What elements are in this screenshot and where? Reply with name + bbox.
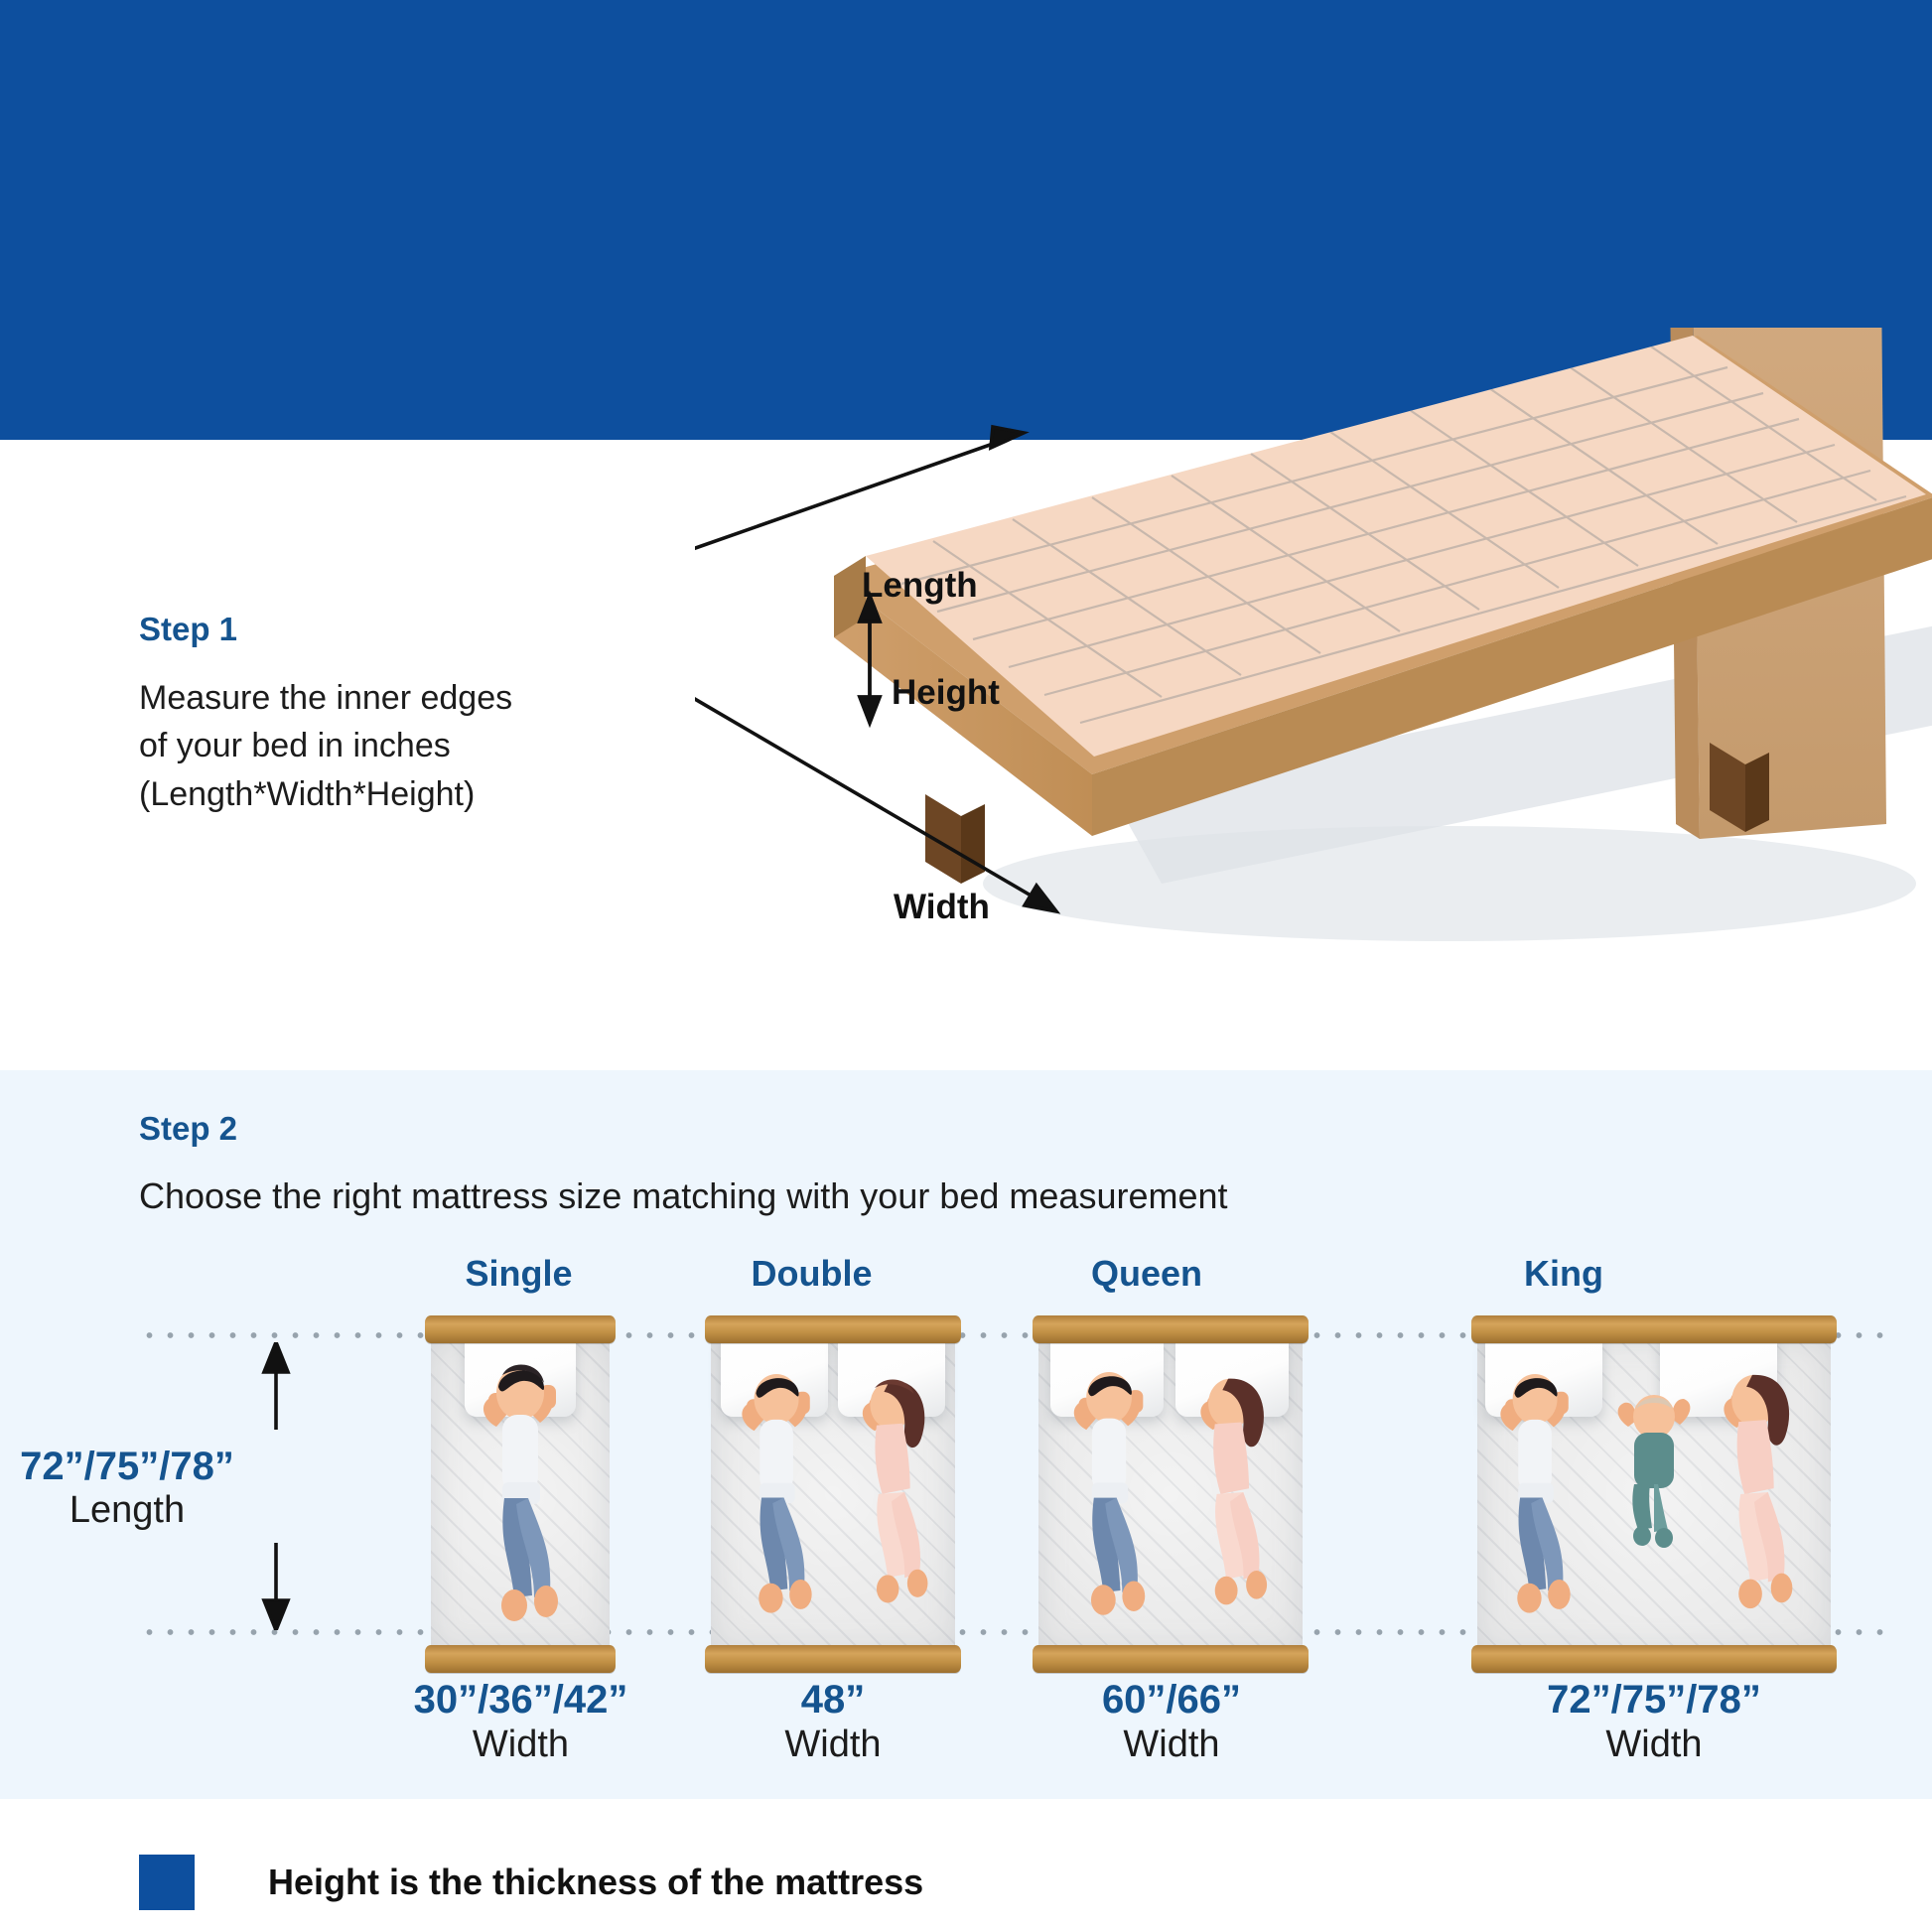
width-label-double: 48” Width <box>713 1678 953 1767</box>
infographic-root: How to choose the right mattress size? <box>0 0 1932 1932</box>
width-label-queen: 60”/66” Width <box>1033 1678 1311 1767</box>
footer-legend: Height is the thickness of the mattress <box>139 1855 923 1910</box>
sleeper-man <box>719 1349 836 1633</box>
length-measure-text: 72”/75”/78” Length <box>0 1445 276 1532</box>
mattress-frame-bottom <box>1033 1645 1309 1673</box>
width-word-queen: Width <box>1033 1723 1311 1768</box>
step1-label: Step 1 <box>139 611 655 648</box>
bed-illustration <box>695 328 1932 1042</box>
sleeper-woman <box>832 1353 949 1631</box>
step2-block: Step 2 Choose the right mattress size ma… <box>139 1110 1228 1220</box>
size-header-king: King <box>1360 1253 1767 1295</box>
step2-body: Choose the right mattress size matching … <box>139 1173 1228 1220</box>
bed-length-label: Length <box>862 566 978 606</box>
mattress-single <box>425 1315 616 1673</box>
sleeper-man <box>1050 1349 1170 1633</box>
step1-block: Step 1 Measure the inner edges of your b… <box>139 611 655 818</box>
mattress-frame-top <box>705 1315 961 1343</box>
length-value: 72”/75”/78” <box>0 1445 276 1489</box>
bed-height-label: Height <box>892 673 1000 713</box>
width-word-single: Width <box>379 1723 662 1768</box>
mattress-king <box>1471 1315 1837 1673</box>
sleeper-woman <box>1170 1353 1289 1631</box>
width-word-double: Width <box>713 1723 953 1768</box>
mattress-frame-bottom <box>1471 1645 1837 1673</box>
size-header-single: Single <box>427 1253 611 1295</box>
size-header-double: Double <box>685 1253 938 1295</box>
sleeper-man <box>1477 1349 1594 1633</box>
width-value-single: 30”/36”/42” <box>379 1678 662 1723</box>
mattress-queen <box>1033 1315 1309 1673</box>
mattress-frame-top <box>1471 1315 1837 1343</box>
width-word-king: Width <box>1471 1723 1837 1768</box>
width-label-single: 30”/36”/42” Width <box>379 1678 662 1767</box>
step1-body-line2: of your bed in inches <box>139 722 655 769</box>
mattress-frame-bottom <box>425 1645 616 1673</box>
width-value-double: 48” <box>713 1678 953 1723</box>
size-header-queen: Queen <box>1008 1253 1286 1295</box>
sleeper-man <box>459 1349 584 1633</box>
step1-body: Measure the inner edges of your bed in i… <box>139 674 655 818</box>
mattress-double <box>705 1315 961 1673</box>
width-value-queen: 60”/66” <box>1033 1678 1311 1723</box>
legend-text: Height is the thickness of the mattress <box>268 1862 923 1903</box>
mattress-frame-top <box>425 1315 616 1343</box>
mattress-frame-bottom <box>705 1645 961 1673</box>
legend-color-swatch <box>139 1855 195 1910</box>
step2-label: Step 2 <box>139 1110 1228 1148</box>
width-value-king: 72”/75”/78” <box>1471 1678 1837 1723</box>
step1-body-line1: Measure the inner edges <box>139 674 655 722</box>
length-word: Length <box>0 1489 276 1533</box>
step1-body-line3: (Length*Width*Height) <box>139 770 655 818</box>
bed-width-label: Width <box>894 888 990 927</box>
sleeper-baby <box>1606 1389 1702 1548</box>
sleeper-woman <box>1692 1353 1815 1631</box>
mattress-frame-top <box>1033 1315 1309 1343</box>
width-label-king: 72”/75”/78” Width <box>1471 1678 1837 1767</box>
